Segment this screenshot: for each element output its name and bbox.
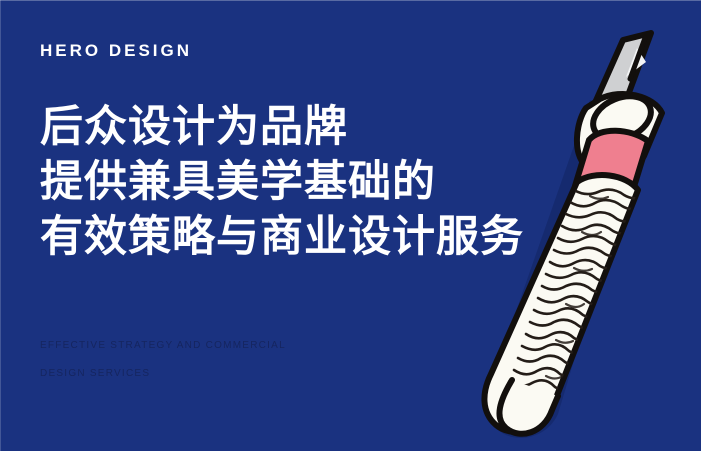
headline-line-1: 后众设计为品牌 [40,100,510,155]
subtitle-block: EFFECTIVE STRATEGY AND COMMERCIAL DESIGN… [40,332,440,388]
headline-line-2: 提供兼具美学基础的 [40,155,510,210]
subtitle-line-2: DESIGN SERVICES [40,360,440,388]
brand-label: HERO DESIGN [40,41,192,61]
text-content: HERO DESIGN 后众设计为品牌 提供兼具美学基础的 有效策略与商业设计服… [40,0,520,451]
poster-canvas: HERO DESIGN 后众设计为品牌 提供兼具美学基础的 有效策略与商业设计服… [0,0,701,451]
headline-line-3: 有效策略与商业设计服务 [40,210,510,265]
headline-block: 后众设计为品牌 提供兼具美学基础的 有效策略与商业设计服务 [40,100,510,265]
subtitle-line-1: EFFECTIVE STRATEGY AND COMMERCIAL [40,332,440,360]
